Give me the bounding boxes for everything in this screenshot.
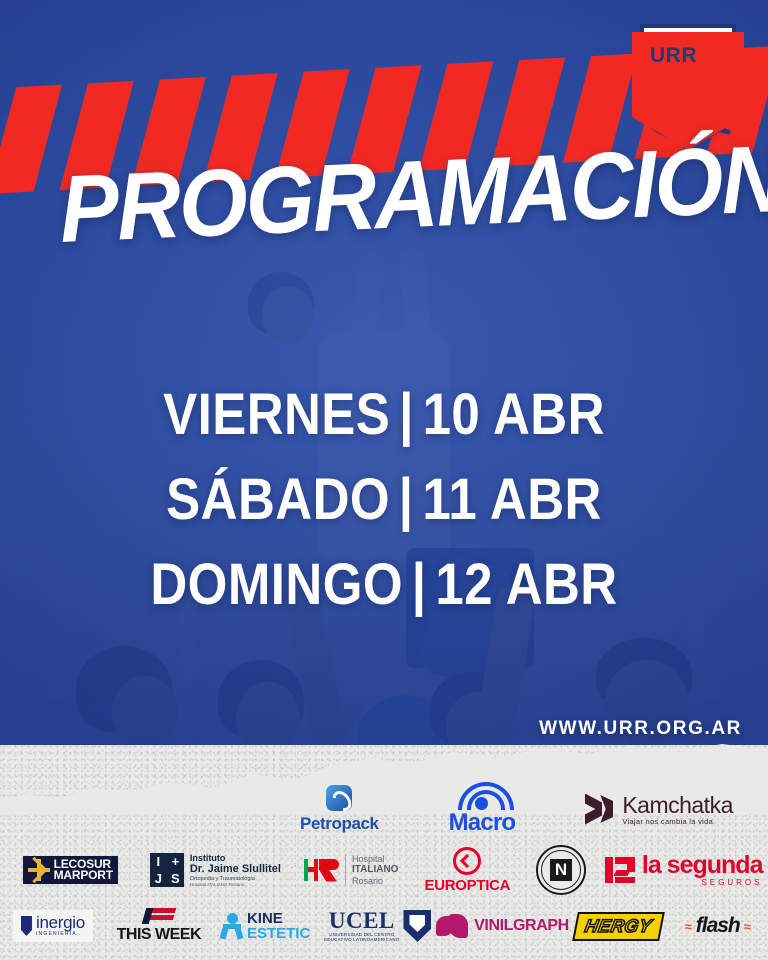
sponsor-name: flash bbox=[696, 914, 740, 938]
sponsor-name2: MARPORT bbox=[54, 870, 113, 881]
sponsor-instituto-slullitel[interactable]: I+JS Instituto Dr. Jaime Slullitel Ortop… bbox=[140, 853, 290, 887]
sponsor-name: Petropack bbox=[300, 814, 379, 834]
lecosur-box: LECOSUR MARPORT bbox=[23, 856, 118, 884]
sponsor-name3: Rosario bbox=[352, 876, 398, 886]
kine-icon bbox=[221, 913, 243, 939]
date-value: 12 ABR bbox=[435, 552, 617, 617]
sponsor-hergy[interactable]: HERGY bbox=[569, 912, 668, 941]
stripe bbox=[0, 85, 62, 194]
sponsor-name: VINILGRAPH bbox=[474, 917, 569, 935]
sponsor-macro[interactable]: Macro bbox=[449, 782, 516, 837]
ucel-shield-icon bbox=[403, 910, 431, 942]
la-segunda-icon bbox=[605, 857, 635, 883]
date-separator: | bbox=[390, 457, 422, 542]
sponsor-ucel[interactable]: UCEL UNIVERSIDAD DEL CENTRO EDUCATIVO LA… bbox=[319, 909, 436, 943]
vinilgraph-icon bbox=[436, 914, 468, 938]
kamchatka-icon bbox=[585, 795, 615, 823]
sponsor-name: Instituto bbox=[190, 853, 281, 863]
sponsor-petropack[interactable]: Petropack bbox=[300, 785, 379, 834]
sponsor-tagline: INGENIERÍA bbox=[36, 932, 85, 937]
europtica-icon bbox=[453, 847, 481, 875]
date-value: 11 ABR bbox=[422, 467, 601, 532]
sponsor-tagline2: EDUCATIVO LATINOAMERICANO bbox=[324, 938, 399, 943]
sponsor-name: UCEL bbox=[329, 909, 395, 933]
date-value: 10 ABR bbox=[423, 382, 605, 447]
macro-icon bbox=[458, 782, 506, 808]
sponsor-name2: ITALIANO bbox=[352, 864, 398, 876]
sponsor-row-3: inergio INGENIERÍA THIS WEEK bbox=[0, 903, 768, 949]
poster-canvas: URR PROGRAMACIÓN VIERNES|10 ABR SÁBADO|1… bbox=[0, 0, 768, 960]
n-seal-icon: N bbox=[536, 845, 586, 895]
inergio-icon bbox=[21, 916, 32, 936]
sponsor-name2: ESTETIC bbox=[247, 926, 310, 941]
sponsor-name: Hospital bbox=[352, 854, 398, 864]
sponsor-name: Macro bbox=[449, 809, 516, 837]
sponsor-tagline: SEGUROS bbox=[642, 878, 763, 887]
date-day: SÁBADO bbox=[166, 467, 390, 532]
sponsor-tagline2: Hospital ITALIANO Rosario bbox=[190, 882, 281, 887]
sponsor-name: KINE bbox=[247, 911, 310, 926]
sponsor-tagline: Viajar nos cambia la vida bbox=[622, 817, 733, 826]
sponsor-name2: Dr. Jaime Slullitel bbox=[190, 863, 281, 875]
sponsor-name: Kamchatka bbox=[622, 793, 733, 817]
sponsor-kine-estetic[interactable]: KINE ESTETIC bbox=[212, 911, 320, 942]
date-day: VIERNES bbox=[163, 382, 390, 447]
sponsor-flash[interactable]: ≈ flash ≈ bbox=[668, 914, 768, 938]
inergio-box: inergio INGENIERÍA bbox=[13, 910, 93, 941]
sponsor-la-segunda[interactable]: la segunda SEGUROS bbox=[599, 853, 768, 887]
flash-swoosh-icon: ≈ bbox=[744, 919, 751, 934]
schedule-dates: VIERNES|10 ABR SÁBADO|11 ABR DOMINGO|12 … bbox=[0, 372, 768, 627]
sponsor-lecosur-marport[interactable]: LECOSUR MARPORT bbox=[0, 856, 140, 884]
hergy-box: HERGY bbox=[572, 912, 664, 941]
sponsor-name: la segunda bbox=[642, 853, 763, 878]
sponsor-europtica[interactable]: EUROPTICA bbox=[412, 847, 523, 894]
sponsor-n-seal[interactable]: N bbox=[523, 845, 600, 895]
date-row: SÁBADO|11 ABR bbox=[46, 457, 722, 542]
petropack-icon bbox=[326, 785, 352, 811]
date-separator: | bbox=[390, 372, 422, 457]
sponsor-row-1: Petropack Macro Kamchatka Viaja bbox=[0, 783, 768, 835]
sponsor-this-week[interactable]: THIS WEEK bbox=[106, 908, 212, 944]
sponsor-row-2: LECOSUR MARPORT I+JS Instituto Dr. Jaime… bbox=[0, 847, 768, 893]
date-row: DOMINGO|12 ABR bbox=[46, 542, 722, 627]
sponsor-name: inergio bbox=[36, 914, 85, 932]
lecosur-emblem-icon bbox=[28, 859, 50, 881]
slullitel-mark-icon: I+JS bbox=[150, 853, 184, 887]
flash-swoosh-icon: ≈ bbox=[685, 919, 692, 934]
sponsor-name: HERGY bbox=[583, 916, 654, 937]
crest-initials: URR bbox=[650, 44, 697, 68]
hospital-italiano-icon bbox=[304, 859, 339, 882]
this-week-flag-icon bbox=[142, 908, 177, 924]
sponsor-inergio[interactable]: inergio INGENIERÍA bbox=[0, 910, 106, 941]
date-separator: | bbox=[403, 542, 435, 627]
sponsor-name: N bbox=[550, 859, 572, 881]
sponsor-kamchatka[interactable]: Kamchatka Viajar nos cambia la vida bbox=[585, 793, 733, 826]
sponsor-vinilgraph[interactable]: VINILGRAPH bbox=[436, 914, 569, 938]
website-url[interactable]: WWW.URR.ORG.AR bbox=[539, 718, 742, 740]
sponsor-panel: Petropack Macro Kamchatka Viaja bbox=[0, 745, 768, 960]
sponsor-name: EUROPTICA bbox=[425, 877, 511, 894]
sponsor-name: THIS WEEK bbox=[117, 926, 201, 944]
date-day: DOMINGO bbox=[150, 552, 403, 617]
sponsor-hospital-italiano[interactable]: Hospital ITALIANO Rosario bbox=[290, 854, 412, 886]
date-row: VIERNES|10 ABR bbox=[46, 372, 722, 457]
